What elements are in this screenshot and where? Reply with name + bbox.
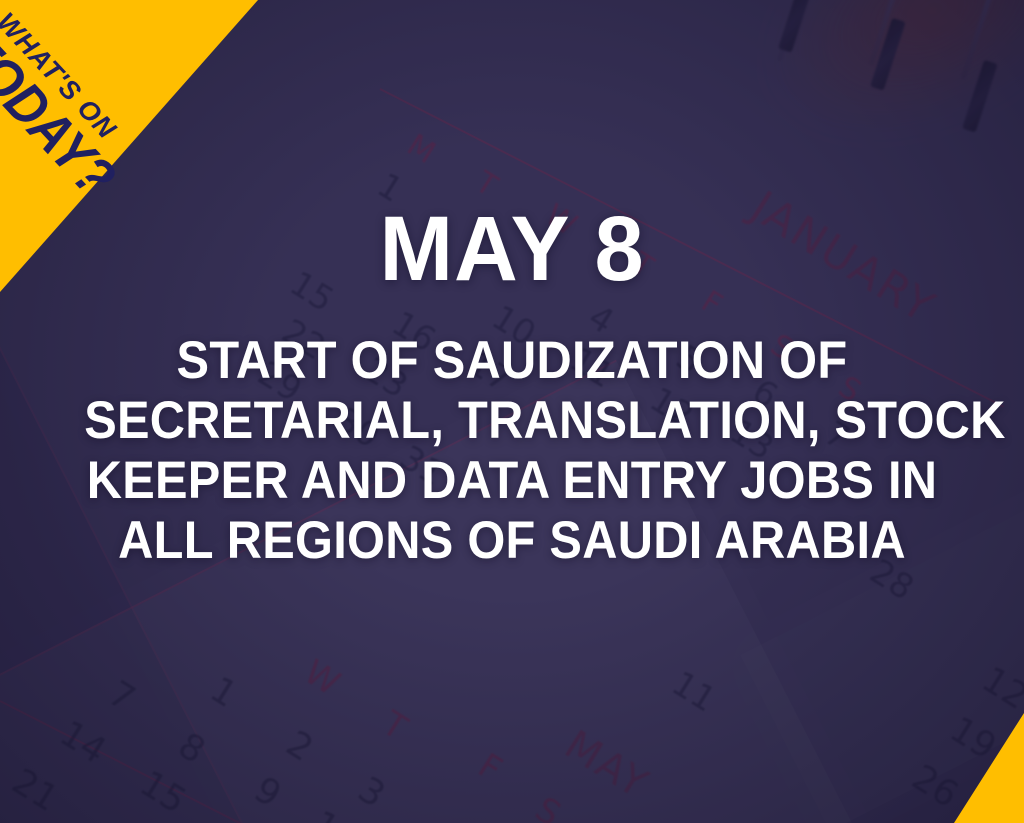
announcement-line-4: ALL REGIONS OF SAUDI ARABIA [84,511,940,571]
poster-content: MAY 8 START OF SAUDIZATION OF SECRETARIA… [0,0,1024,823]
announcement-line-1: START OF SAUDIZATION OF [84,331,940,391]
announcement-text: START OF SAUDIZATION OF SECRETARIAL, TRA… [84,331,940,571]
announcement-line-3: KEEPER AND DATA ENTRY JOBS IN [84,451,940,511]
page-title-date: MAY 8 [379,206,644,293]
announcement-line-2: SECRETARIAL, TRANSLATION, STOCK [84,391,940,451]
poster-canvas: JANUARYMAYMTWTFSSWTFS1152229162330311017… [0,0,1024,823]
